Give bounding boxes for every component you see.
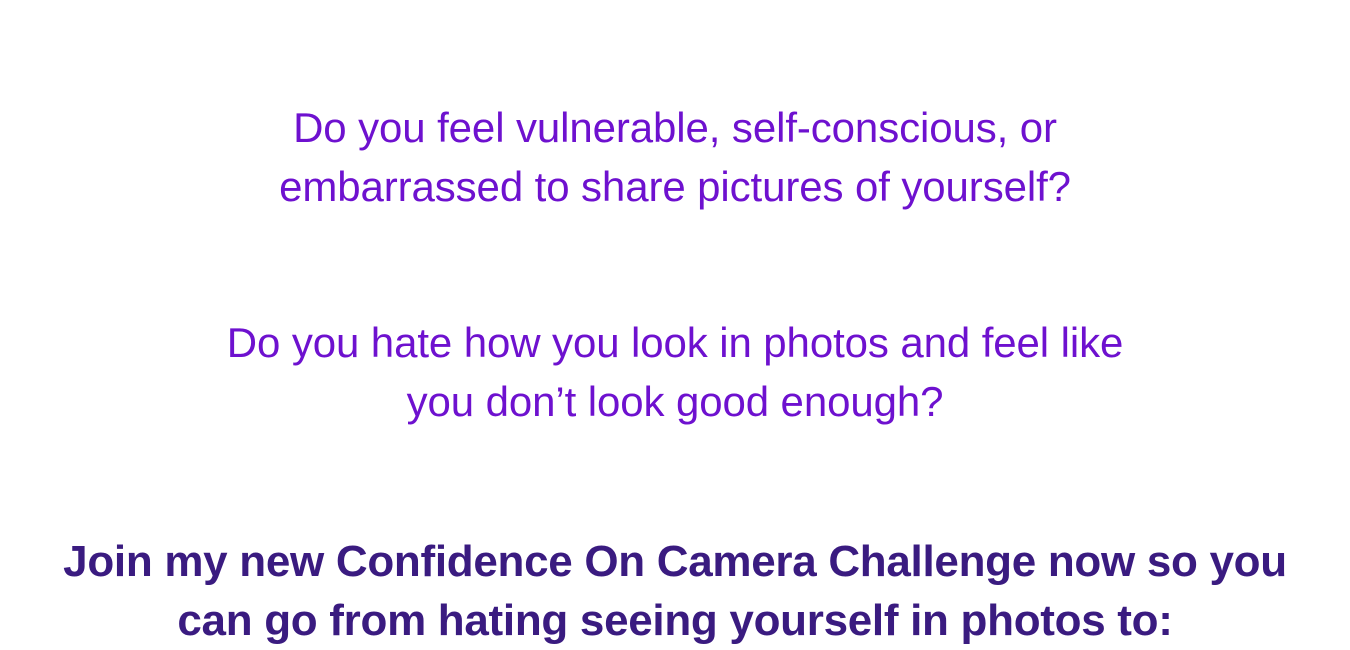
cta-block-line-1: Join my new Confidence On Camera Challen… <box>16 532 1334 591</box>
question-block-2: Do you hate how you look in photos and f… <box>0 313 1350 431</box>
cta-block-line-2: can go from hating seeing yourself in ph… <box>16 591 1334 650</box>
paragraph-spacer-2 <box>0 431 1350 532</box>
question-block-2-line-2: you don’t look good enough? <box>110 372 1240 431</box>
promo-canvas: Do you feel vulnerable, self-conscious, … <box>0 0 1350 650</box>
question-block-1-line-1: Do you feel vulnerable, self-conscious, … <box>110 98 1240 157</box>
cta-block: Join my new Confidence On Camera Challen… <box>0 532 1350 650</box>
question-block-2-line-1: Do you hate how you look in photos and f… <box>110 313 1240 372</box>
question-block-1: Do you feel vulnerable, self-conscious, … <box>0 98 1350 216</box>
question-block-1-line-2: embarrassed to share pictures of yoursel… <box>110 157 1240 216</box>
paragraph-spacer-1 <box>0 216 1350 313</box>
